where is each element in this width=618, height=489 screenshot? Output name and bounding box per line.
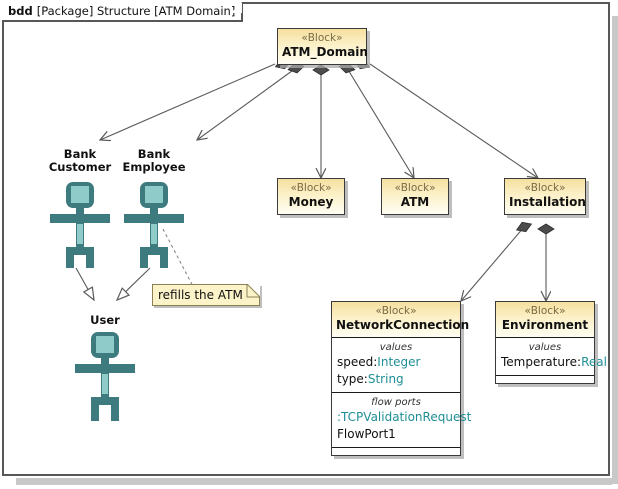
frame-shadow-bottom — [16, 478, 612, 485]
block-name: Money — [282, 195, 340, 210]
values-compartment: values Temperature:Real — [496, 337, 594, 375]
block-stereotype: «Block» — [386, 182, 444, 195]
value-name: speed: — [337, 355, 377, 369]
block-installation[interactable]: «Block» Installation — [504, 178, 586, 215]
diagram-canvas: bdd [Package] Structure [ATM Domain] — [0, 0, 618, 489]
value-type: Integer — [377, 355, 420, 369]
block-money[interactable]: «Block» Money — [277, 178, 345, 215]
block-header: «Block» Environment — [496, 302, 594, 337]
compartment-title: values — [337, 341, 455, 354]
value-property[interactable]: speed:Integer — [337, 354, 455, 371]
flow-port[interactable]: :TCPValidationRequest — [337, 409, 455, 426]
flow-port[interactable]: FlowPort1 — [337, 426, 455, 443]
note-text: refills the ATM — [158, 288, 243, 302]
frame-shadow-right — [612, 16, 618, 484]
value-type: Real — [581, 355, 607, 369]
block-header: «Block» Money — [278, 179, 344, 214]
block-environment[interactable]: «Block» Environment values Temperature:R… — [495, 301, 595, 384]
note-refills-the-atm[interactable]: refills the ATM — [152, 284, 260, 306]
compartment-title: values — [501, 341, 589, 354]
block-stereotype: «Block» — [282, 182, 340, 195]
extra-compartment — [332, 447, 460, 455]
actor-figure-icon — [73, 314, 137, 424]
values-compartment: values speed:Integer type:String — [332, 337, 460, 392]
block-header: «Block» Installation — [505, 179, 585, 214]
diagram-frame-label: bdd [Package] Structure [ATM Domain] — [2, 2, 243, 22]
value-property[interactable]: Temperature:Real — [501, 354, 589, 371]
value-property[interactable]: type:String — [337, 371, 455, 388]
extra-compartment — [496, 375, 594, 383]
block-atm-domain[interactable]: «Block» ATM_Domain — [277, 28, 367, 65]
frame-tab-corner — [231, 2, 242, 13]
compartment-title: flow ports — [337, 396, 455, 409]
value-type: String — [368, 372, 404, 386]
actor-figure-icon — [122, 148, 186, 268]
block-stereotype: «Block» — [500, 305, 590, 318]
block-stereotype: «Block» — [509, 182, 581, 195]
actor-user[interactable]: User — [73, 314, 137, 424]
actor-bank-employee[interactable]: Bank Employee — [122, 148, 186, 268]
block-name: NetworkConnection — [336, 318, 456, 333]
block-network-connection[interactable]: «Block» NetworkConnection values speed:I… — [331, 301, 461, 456]
block-atm[interactable]: «Block» ATM — [381, 178, 449, 215]
value-name: Temperature: — [501, 355, 581, 369]
flowports-compartment: flow ports :TCPValidationRequest FlowPor… — [332, 392, 460, 447]
value-name: type: — [337, 372, 368, 386]
block-stereotype: «Block» — [336, 305, 456, 318]
actor-figure-icon — [48, 148, 112, 268]
actor-bank-customer[interactable]: Bank Customer — [48, 148, 112, 268]
block-header: «Block» ATM_Domain — [278, 29, 366, 64]
block-name: ATM — [386, 195, 444, 210]
block-stereotype: «Block» — [282, 32, 362, 45]
block-header: «Block» NetworkConnection — [332, 302, 460, 337]
block-name: Installation — [509, 195, 581, 210]
frame-label-text: [Package] Structure [ATM Domain] — [37, 4, 236, 18]
frame-label-kind: bdd — [8, 4, 33, 18]
note-fold-lines-icon — [241, 284, 260, 303]
block-header: «Block» ATM — [382, 179, 448, 214]
block-name: Environment — [500, 318, 590, 333]
block-name: ATM_Domain — [282, 45, 362, 60]
